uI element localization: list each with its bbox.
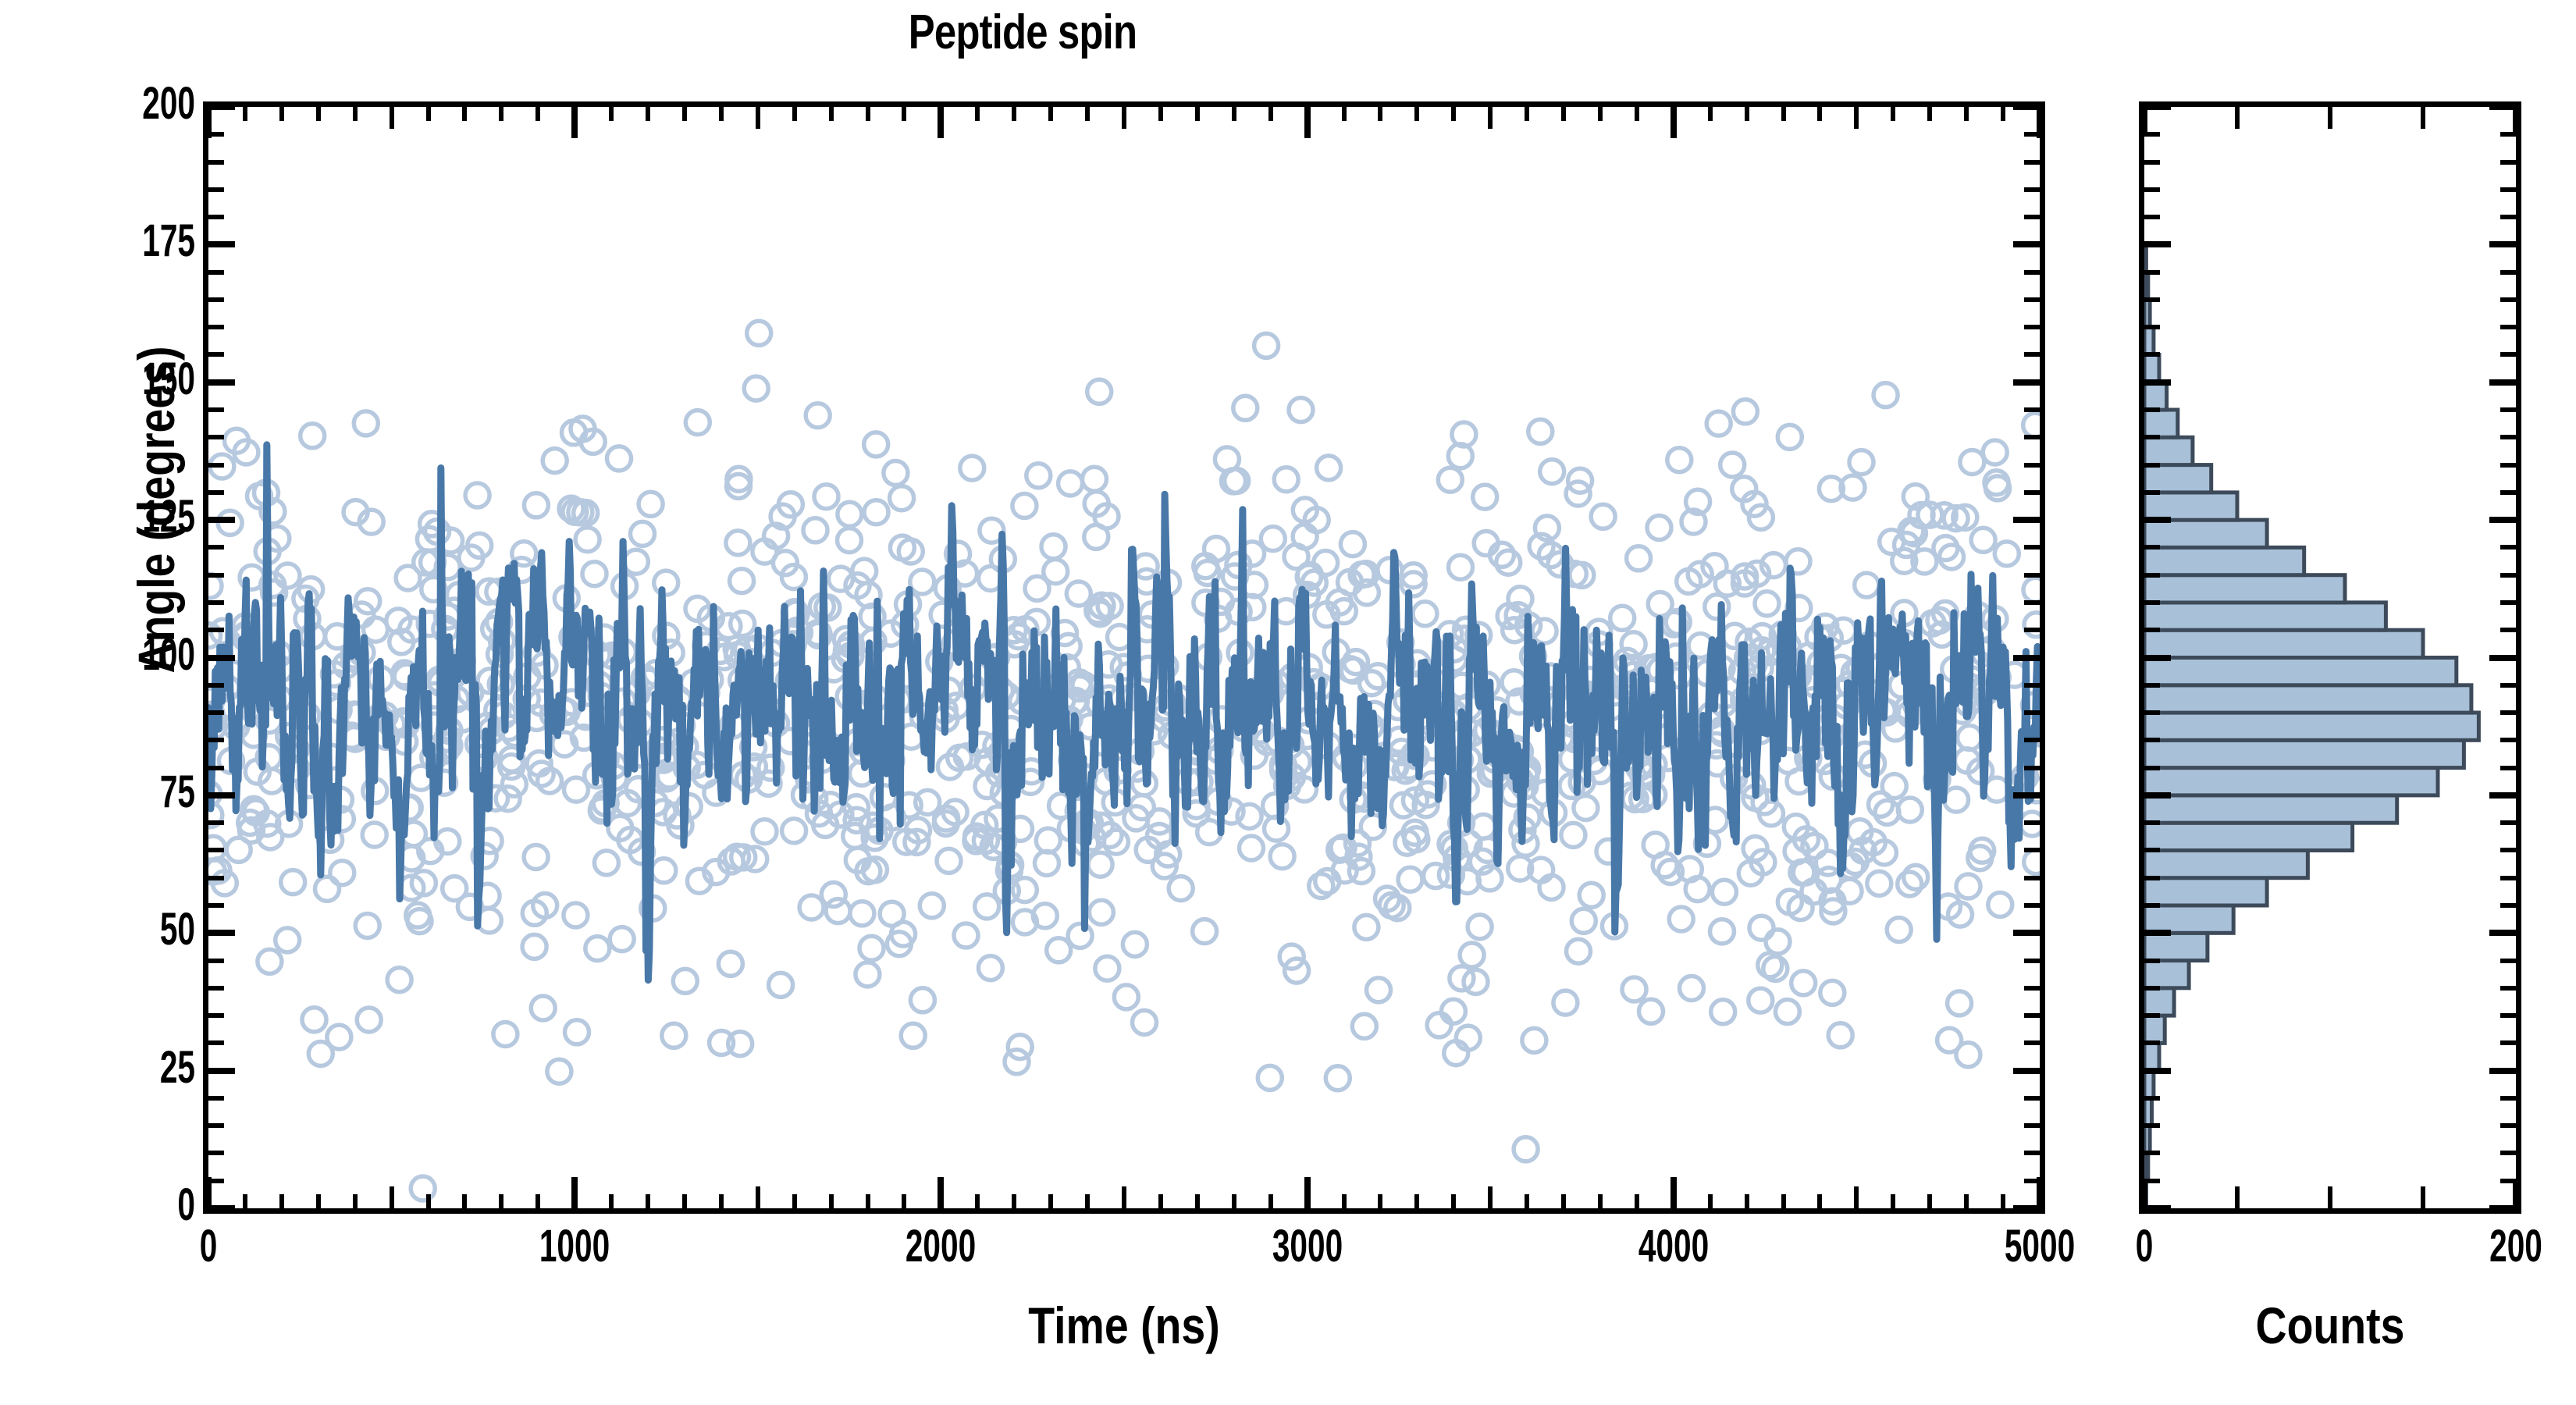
x-tick-2300 [1048, 1194, 1053, 1208]
x-tick-1500 [756, 1186, 760, 1208]
hist-y-tick-125 [2144, 517, 2171, 523]
y-tick-40 [208, 986, 224, 991]
y-tick-165 [208, 297, 224, 302]
x-tick-600 [426, 1194, 431, 1208]
histogram-bar [2144, 1126, 2150, 1153]
x-tick-top-1600 [792, 107, 797, 121]
histogram-bar [2144, 850, 2307, 877]
histogram-bar [2144, 272, 2148, 300]
x-tick-top-3900 [1635, 107, 1639, 121]
y-tick-label-50: 50 [69, 903, 195, 955]
y-tick-right-155 [2024, 352, 2040, 357]
y-tick-right-130 [2024, 490, 2040, 495]
hist-y-tick-190 [2144, 160, 2160, 165]
hist-y-tick-right-200 [2489, 104, 2516, 110]
x-tick-top-3300 [1414, 107, 1419, 121]
y-tick-right-160 [2024, 325, 2040, 329]
y-tick-right-125 [2013, 517, 2040, 523]
y-tick-right-185 [2024, 187, 2040, 192]
x-tick-4900 [2001, 1194, 2005, 1208]
y-tick-right-25 [2013, 1068, 2040, 1074]
y-tick-95 [208, 683, 224, 688]
hist-y-tick-right-190 [2500, 160, 2516, 165]
x-tick-top-3400 [1451, 107, 1456, 121]
histogram-bar [2144, 465, 2211, 493]
hist-y-tick-145 [2144, 407, 2160, 412]
x-tick-top-2700 [1195, 107, 1200, 121]
x-tick-top-4600 [1891, 107, 1895, 121]
histogram-bar [2144, 1071, 2154, 1098]
y-tick-right-80 [2024, 766, 2040, 770]
x-tick-top-3600 [1525, 107, 1529, 121]
x-tick-top-2800 [1232, 107, 1236, 121]
x-tick-100 [243, 1194, 247, 1208]
x-tick-top-300 [316, 107, 321, 121]
x-tick-1300 [682, 1194, 687, 1208]
x-tick-top-4800 [1964, 107, 1969, 121]
y-tick-35 [208, 1013, 224, 1018]
y-tick-right-190 [2024, 160, 2040, 165]
histogram-plot-area [2144, 107, 2516, 1208]
y-tick-right-70 [2024, 820, 2040, 825]
hist-y-tick-right-155 [2500, 352, 2516, 357]
y-tick-right-65 [2024, 848, 2040, 852]
x-tick-200 [279, 1194, 284, 1208]
y-tick-65 [208, 848, 224, 852]
time-series-canvas [208, 107, 2040, 1208]
y-tick-right-180 [2024, 215, 2040, 219]
hist-y-tick-right-85 [2500, 738, 2516, 742]
x-tick-3400 [1451, 1194, 1456, 1208]
hist-y-tick-100 [2144, 655, 2171, 661]
hist-y-tick-right-185 [2500, 187, 2516, 192]
hist-y-tick-15 [2144, 1123, 2160, 1128]
x-tick-4700 [1927, 1194, 1932, 1208]
hist-x-tick-50 [2235, 1186, 2240, 1208]
hist-x-tick-200 [2513, 1179, 2519, 1208]
y-tick-110 [208, 600, 224, 605]
hist-y-tick-55 [2144, 903, 2160, 908]
x-tick-500 [390, 1186, 394, 1208]
time-series-plot-area [208, 107, 2040, 1208]
x-tick-top-1900 [902, 107, 906, 121]
hist-y-tick-20 [2144, 1096, 2160, 1101]
y-tick-145 [208, 407, 224, 412]
x-tick-top-3000 [1304, 107, 1311, 138]
x-tick-top-0 [205, 107, 212, 138]
x-tick-3800 [1598, 1194, 1603, 1208]
x-tick-4000 [1670, 1177, 1677, 1208]
x-tick-top-4100 [1708, 107, 1713, 121]
hist-y-tick-right-170 [2500, 270, 2516, 275]
y-tick-right-75 [2013, 792, 2040, 799]
x-tick-top-5000 [2037, 107, 2043, 138]
hist-y-tick-115 [2144, 573, 2160, 578]
hist-y-tick-right-145 [2500, 407, 2516, 412]
x-tick-2100 [975, 1194, 980, 1208]
x-tick-top-4300 [1781, 107, 1786, 121]
y-tick-right-140 [2024, 435, 2040, 439]
y-tick-80 [208, 766, 224, 770]
y-tick-right-30 [2024, 1040, 2040, 1045]
histogram-bars [2144, 244, 2478, 1208]
x-tick-top-2200 [1012, 107, 1016, 121]
hist-y-tick-180 [2144, 215, 2160, 219]
y-tick-right-120 [2024, 545, 2040, 550]
hist-y-tick-35 [2144, 1013, 2160, 1018]
hist-y-tick-right-165 [2500, 297, 2516, 302]
y-tick-right-0 [2013, 1205, 2040, 1211]
x-tick-4100 [1708, 1194, 1713, 1208]
x-tick-top-400 [353, 107, 358, 121]
x-tick-300 [316, 1194, 321, 1208]
hist-y-tick-110 [2144, 600, 2160, 605]
hist-y-tick-45 [2144, 959, 2160, 963]
histogram-bar [2144, 382, 2167, 410]
hist-y-tick-0 [2144, 1205, 2171, 1211]
time-series-panel [203, 101, 2045, 1214]
hist-y-tick-right-180 [2500, 215, 2516, 219]
hist-x-tick-label-200: 200 [2407, 1220, 2576, 1272]
y-tick-right-20 [2024, 1096, 2040, 1101]
histogram-bar [2144, 355, 2159, 382]
hist-y-tick-170 [2144, 270, 2160, 275]
hist-y-tick-75 [2144, 792, 2171, 799]
hist-y-tick-right-150 [2489, 379, 2516, 386]
x-tick-1900 [902, 1194, 906, 1208]
y-tick-right-170 [2024, 270, 2040, 275]
histogram-bar [2144, 1154, 2148, 1181]
y-tick-155 [208, 352, 224, 357]
histogram-bar [2144, 547, 2304, 574]
y-tick-right-135 [2024, 463, 2040, 468]
hist-y-tick-right-20 [2500, 1096, 2516, 1101]
histogram-canvas [2144, 107, 2516, 1208]
x-tick-4500 [1854, 1186, 1859, 1208]
x-tick-2500 [1122, 1186, 1126, 1208]
x-axis-label-hist: Counts [2169, 1296, 2491, 1355]
x-tick-top-2900 [1268, 107, 1273, 121]
histogram-bar [2144, 658, 2457, 685]
chart-title: Peptide spin [184, 5, 1861, 60]
y-tick-180 [208, 215, 224, 219]
y-tick-right-105 [2024, 628, 2040, 632]
histogram-bar [2144, 713, 2478, 740]
y-tick-right-165 [2024, 297, 2040, 302]
hist-y-tick-right-35 [2500, 1013, 2516, 1018]
y-tick-right-175 [2013, 241, 2040, 247]
x-tick-top-3500 [1488, 107, 1493, 129]
hist-y-tick-right-110 [2500, 600, 2516, 605]
y-tick-190 [208, 160, 224, 165]
hist-y-tick-right-65 [2500, 848, 2516, 852]
histogram-bar [2144, 1016, 2165, 1043]
y-tick-right-150 [2013, 379, 2040, 386]
hist-x-tick-label-0: 0 [2035, 1220, 2254, 1272]
x-tick-top-800 [499, 107, 503, 121]
x-tick-2900 [1268, 1194, 1273, 1208]
x-tick-top-1700 [829, 107, 834, 121]
y-tick-150 [208, 379, 235, 386]
y-tick-right-85 [2024, 738, 2040, 742]
x-tick-top-2000 [938, 107, 944, 138]
x-tick-top-4700 [1927, 107, 1932, 121]
hist-y-tick-right-15 [2500, 1123, 2516, 1128]
y-tick-170 [208, 270, 224, 275]
x-tick-700 [462, 1194, 467, 1208]
x-tick-top-500 [390, 107, 394, 129]
x-tick-top-900 [535, 107, 540, 121]
hist-y-tick-right-95 [2500, 683, 2516, 688]
y-tick-175 [208, 241, 235, 247]
hist-y-tick-right-45 [2500, 959, 2516, 963]
hist-y-tick-right-10 [2500, 1151, 2516, 1155]
x-tick-top-1100 [609, 107, 614, 121]
x-tick-2000 [938, 1177, 944, 1208]
x-tick-label-0: 0 [99, 1220, 318, 1272]
y-tick-right-45 [2024, 959, 2040, 963]
hist-y-tick-right-40 [2500, 986, 2516, 991]
x-tick-3700 [1561, 1194, 1566, 1208]
histogram-panel [2139, 101, 2521, 1214]
y-tick-75 [208, 792, 235, 799]
y-tick-10 [208, 1151, 224, 1155]
histogram-bar [2144, 685, 2471, 713]
x-tick-1800 [866, 1194, 870, 1208]
x-tick-top-4200 [1745, 107, 1749, 121]
y-tick-label-175: 175 [69, 215, 195, 267]
y-tick-right-95 [2024, 683, 2040, 688]
x-tick-top-1500 [756, 107, 760, 129]
y-tick-55 [208, 903, 224, 908]
hist-y-tick-right-175 [2489, 241, 2516, 247]
x-tick-top-600 [426, 107, 431, 121]
hist-y-tick-95 [2144, 683, 2160, 688]
y-tick-right-40 [2024, 986, 2040, 991]
y-tick-90 [208, 710, 224, 715]
hist-x-tick-150 [2421, 1186, 2425, 1208]
hist-y-tick-right-60 [2500, 876, 2516, 880]
hist-y-tick-right-70 [2500, 820, 2516, 825]
x-tick-top-2500 [1122, 107, 1126, 129]
y-tick-right-15 [2024, 1123, 2040, 1128]
x-tick-3100 [1342, 1194, 1347, 1208]
x-tick-5000 [2037, 1177, 2043, 1208]
y-tick-label-25: 25 [69, 1041, 195, 1094]
y-tick-right-100 [2013, 655, 2040, 661]
hist-x-tick-0 [2141, 1179, 2147, 1208]
x-tick-2400 [1085, 1194, 1090, 1208]
x-tick-top-4000 [1670, 107, 1677, 138]
x-tick-label-2000: 2000 [831, 1220, 1050, 1272]
x-tick-top-3700 [1561, 107, 1566, 121]
hist-y-tick-40 [2144, 986, 2160, 991]
x-tick-top-1200 [646, 107, 650, 121]
y-tick-right-55 [2024, 903, 2040, 908]
x-tick-2200 [1012, 1194, 1016, 1208]
histogram-bar [2144, 740, 2464, 767]
histogram-bar [2144, 961, 2189, 988]
histogram-bar [2144, 493, 2237, 520]
hist-x-tick-top-0 [2141, 107, 2147, 137]
y-tick-100 [208, 655, 235, 661]
hist-y-tick-right-115 [2500, 573, 2516, 578]
histogram-bar [2144, 630, 2423, 657]
y-tick-right-10 [2024, 1151, 2040, 1155]
hist-y-tick-right-105 [2500, 628, 2516, 632]
y-tick-105 [208, 628, 224, 632]
hist-y-tick-right-80 [2500, 766, 2516, 770]
x-tick-label-3000: 3000 [1198, 1220, 1417, 1272]
y-tick-160 [208, 325, 224, 329]
y-tick-20 [208, 1096, 224, 1101]
y-tick-label-75: 75 [69, 766, 195, 818]
x-tick-1700 [829, 1194, 834, 1208]
x-tick-4200 [1745, 1194, 1749, 1208]
histogram-bar [2144, 603, 2386, 630]
hist-y-tick-right-90 [2500, 710, 2516, 715]
hist-y-tick-140 [2144, 435, 2160, 439]
y-tick-15 [208, 1123, 224, 1128]
hist-y-tick-right-140 [2500, 435, 2516, 439]
y-tick-85 [208, 738, 224, 742]
y-tick-right-110 [2024, 600, 2040, 605]
hist-y-tick-right-55 [2500, 903, 2516, 908]
hist-y-tick-right-120 [2500, 545, 2516, 550]
hist-y-tick-175 [2144, 241, 2171, 247]
hist-y-tick-80 [2144, 766, 2160, 770]
histogram-bar [2144, 327, 2154, 354]
hist-x-tick-100 [2328, 1186, 2332, 1208]
x-tick-top-4900 [2001, 107, 2005, 121]
x-tick-4400 [1817, 1194, 1822, 1208]
y-tick-120 [208, 545, 224, 550]
hist-y-tick-185 [2144, 187, 2160, 192]
hist-y-tick-right-25 [2489, 1068, 2516, 1074]
x-tick-top-4500 [1854, 107, 1859, 129]
x-tick-2800 [1232, 1194, 1236, 1208]
histogram-bar [2144, 1098, 2152, 1126]
x-tick-top-1400 [719, 107, 724, 121]
y-tick-50 [208, 930, 235, 936]
x-tick-1400 [719, 1194, 724, 1208]
x-tick-900 [535, 1194, 540, 1208]
histogram-bar [2144, 437, 2193, 464]
hist-y-tick-right-130 [2500, 490, 2516, 495]
y-tick-30 [208, 1040, 224, 1045]
hist-y-tick-right-135 [2500, 463, 2516, 468]
hist-y-tick-70 [2144, 820, 2160, 825]
x-tick-top-3800 [1598, 107, 1603, 121]
hist-y-tick-25 [2144, 1068, 2171, 1074]
hist-y-tick-right-100 [2489, 655, 2516, 661]
x-tick-1100 [609, 1194, 614, 1208]
y-tick-right-200 [2013, 104, 2040, 110]
hist-x-tick-top-100 [2328, 107, 2332, 129]
y-tick-130 [208, 490, 224, 495]
x-tick-top-1000 [571, 107, 578, 138]
x-tick-3500 [1488, 1186, 1493, 1208]
y-tick-140 [208, 435, 224, 439]
hist-y-tick-50 [2144, 930, 2171, 936]
histogram-bar [2144, 988, 2174, 1016]
hist-y-tick-130 [2144, 490, 2160, 495]
x-tick-3300 [1414, 1194, 1419, 1208]
x-tick-1200 [646, 1194, 650, 1208]
hist-y-tick-65 [2144, 848, 2160, 852]
x-tick-top-4400 [1817, 107, 1822, 121]
hist-y-tick-155 [2144, 352, 2160, 357]
y-tick-right-115 [2024, 573, 2040, 578]
histogram-bar [2144, 520, 2267, 547]
hist-y-tick-160 [2144, 325, 2160, 329]
hist-y-tick-right-75 [2489, 792, 2516, 799]
y-tick-70 [208, 820, 224, 825]
histogram-bar [2144, 878, 2267, 905]
hist-x-tick-top-200 [2513, 107, 2519, 137]
y-tick-right-50 [2013, 930, 2040, 936]
histogram-bar [2144, 795, 2397, 823]
hist-y-tick-right-0 [2489, 1205, 2516, 1211]
x-tick-3000 [1304, 1177, 1311, 1208]
histogram-bar [2144, 244, 2146, 272]
y-tick-135 [208, 463, 224, 468]
hist-y-tick-right-50 [2489, 930, 2516, 936]
x-tick-1600 [792, 1194, 797, 1208]
hist-y-tick-60 [2144, 876, 2160, 880]
x-tick-400 [353, 1194, 358, 1208]
hist-y-tick-right-125 [2489, 517, 2516, 523]
x-tick-top-2600 [1158, 107, 1163, 121]
x-tick-label-1000: 1000 [465, 1220, 684, 1272]
y-axis-label: Angle (degrees) [126, 280, 186, 739]
histogram-bar [2144, 905, 2233, 933]
hist-y-tick-30 [2144, 1040, 2160, 1045]
hist-y-tick-90 [2144, 710, 2160, 715]
x-tick-top-3100 [1342, 107, 1347, 121]
x-tick-2700 [1195, 1194, 1200, 1208]
hist-y-tick-135 [2144, 463, 2160, 468]
histogram-bar [2144, 823, 2353, 850]
hist-y-tick-120 [2144, 545, 2160, 550]
x-tick-label-4000: 4000 [1564, 1220, 1783, 1272]
histogram-bar [2144, 768, 2438, 795]
y-tick-0 [208, 1205, 235, 1211]
hist-y-tick-150 [2144, 379, 2171, 386]
y-tick-115 [208, 573, 224, 578]
histogram-bar [2144, 300, 2150, 327]
y-tick-right-60 [2024, 876, 2040, 880]
x-tick-top-700 [462, 107, 467, 121]
y-tick-right-90 [2024, 710, 2040, 715]
hist-x-tick-top-150 [2421, 107, 2425, 129]
figure-root: Peptide spin 025507510012515017520001000… [0, 0, 2576, 1405]
x-tick-top-2300 [1048, 107, 1053, 121]
x-tick-800 [499, 1194, 503, 1208]
histogram-bar [2144, 1043, 2159, 1070]
x-tick-2600 [1158, 1194, 1163, 1208]
x-tick-top-1300 [682, 107, 687, 121]
hist-y-tick-200 [2144, 104, 2171, 110]
x-tick-3900 [1635, 1194, 1639, 1208]
x-tick-3600 [1525, 1194, 1529, 1208]
histogram-bar [2144, 575, 2345, 603]
x-tick-top-2400 [1085, 107, 1090, 121]
y-tick-label-200: 200 [69, 77, 195, 130]
x-tick-3200 [1378, 1194, 1382, 1208]
y-tick-25 [208, 1068, 235, 1074]
y-tick-right-145 [2024, 407, 2040, 412]
